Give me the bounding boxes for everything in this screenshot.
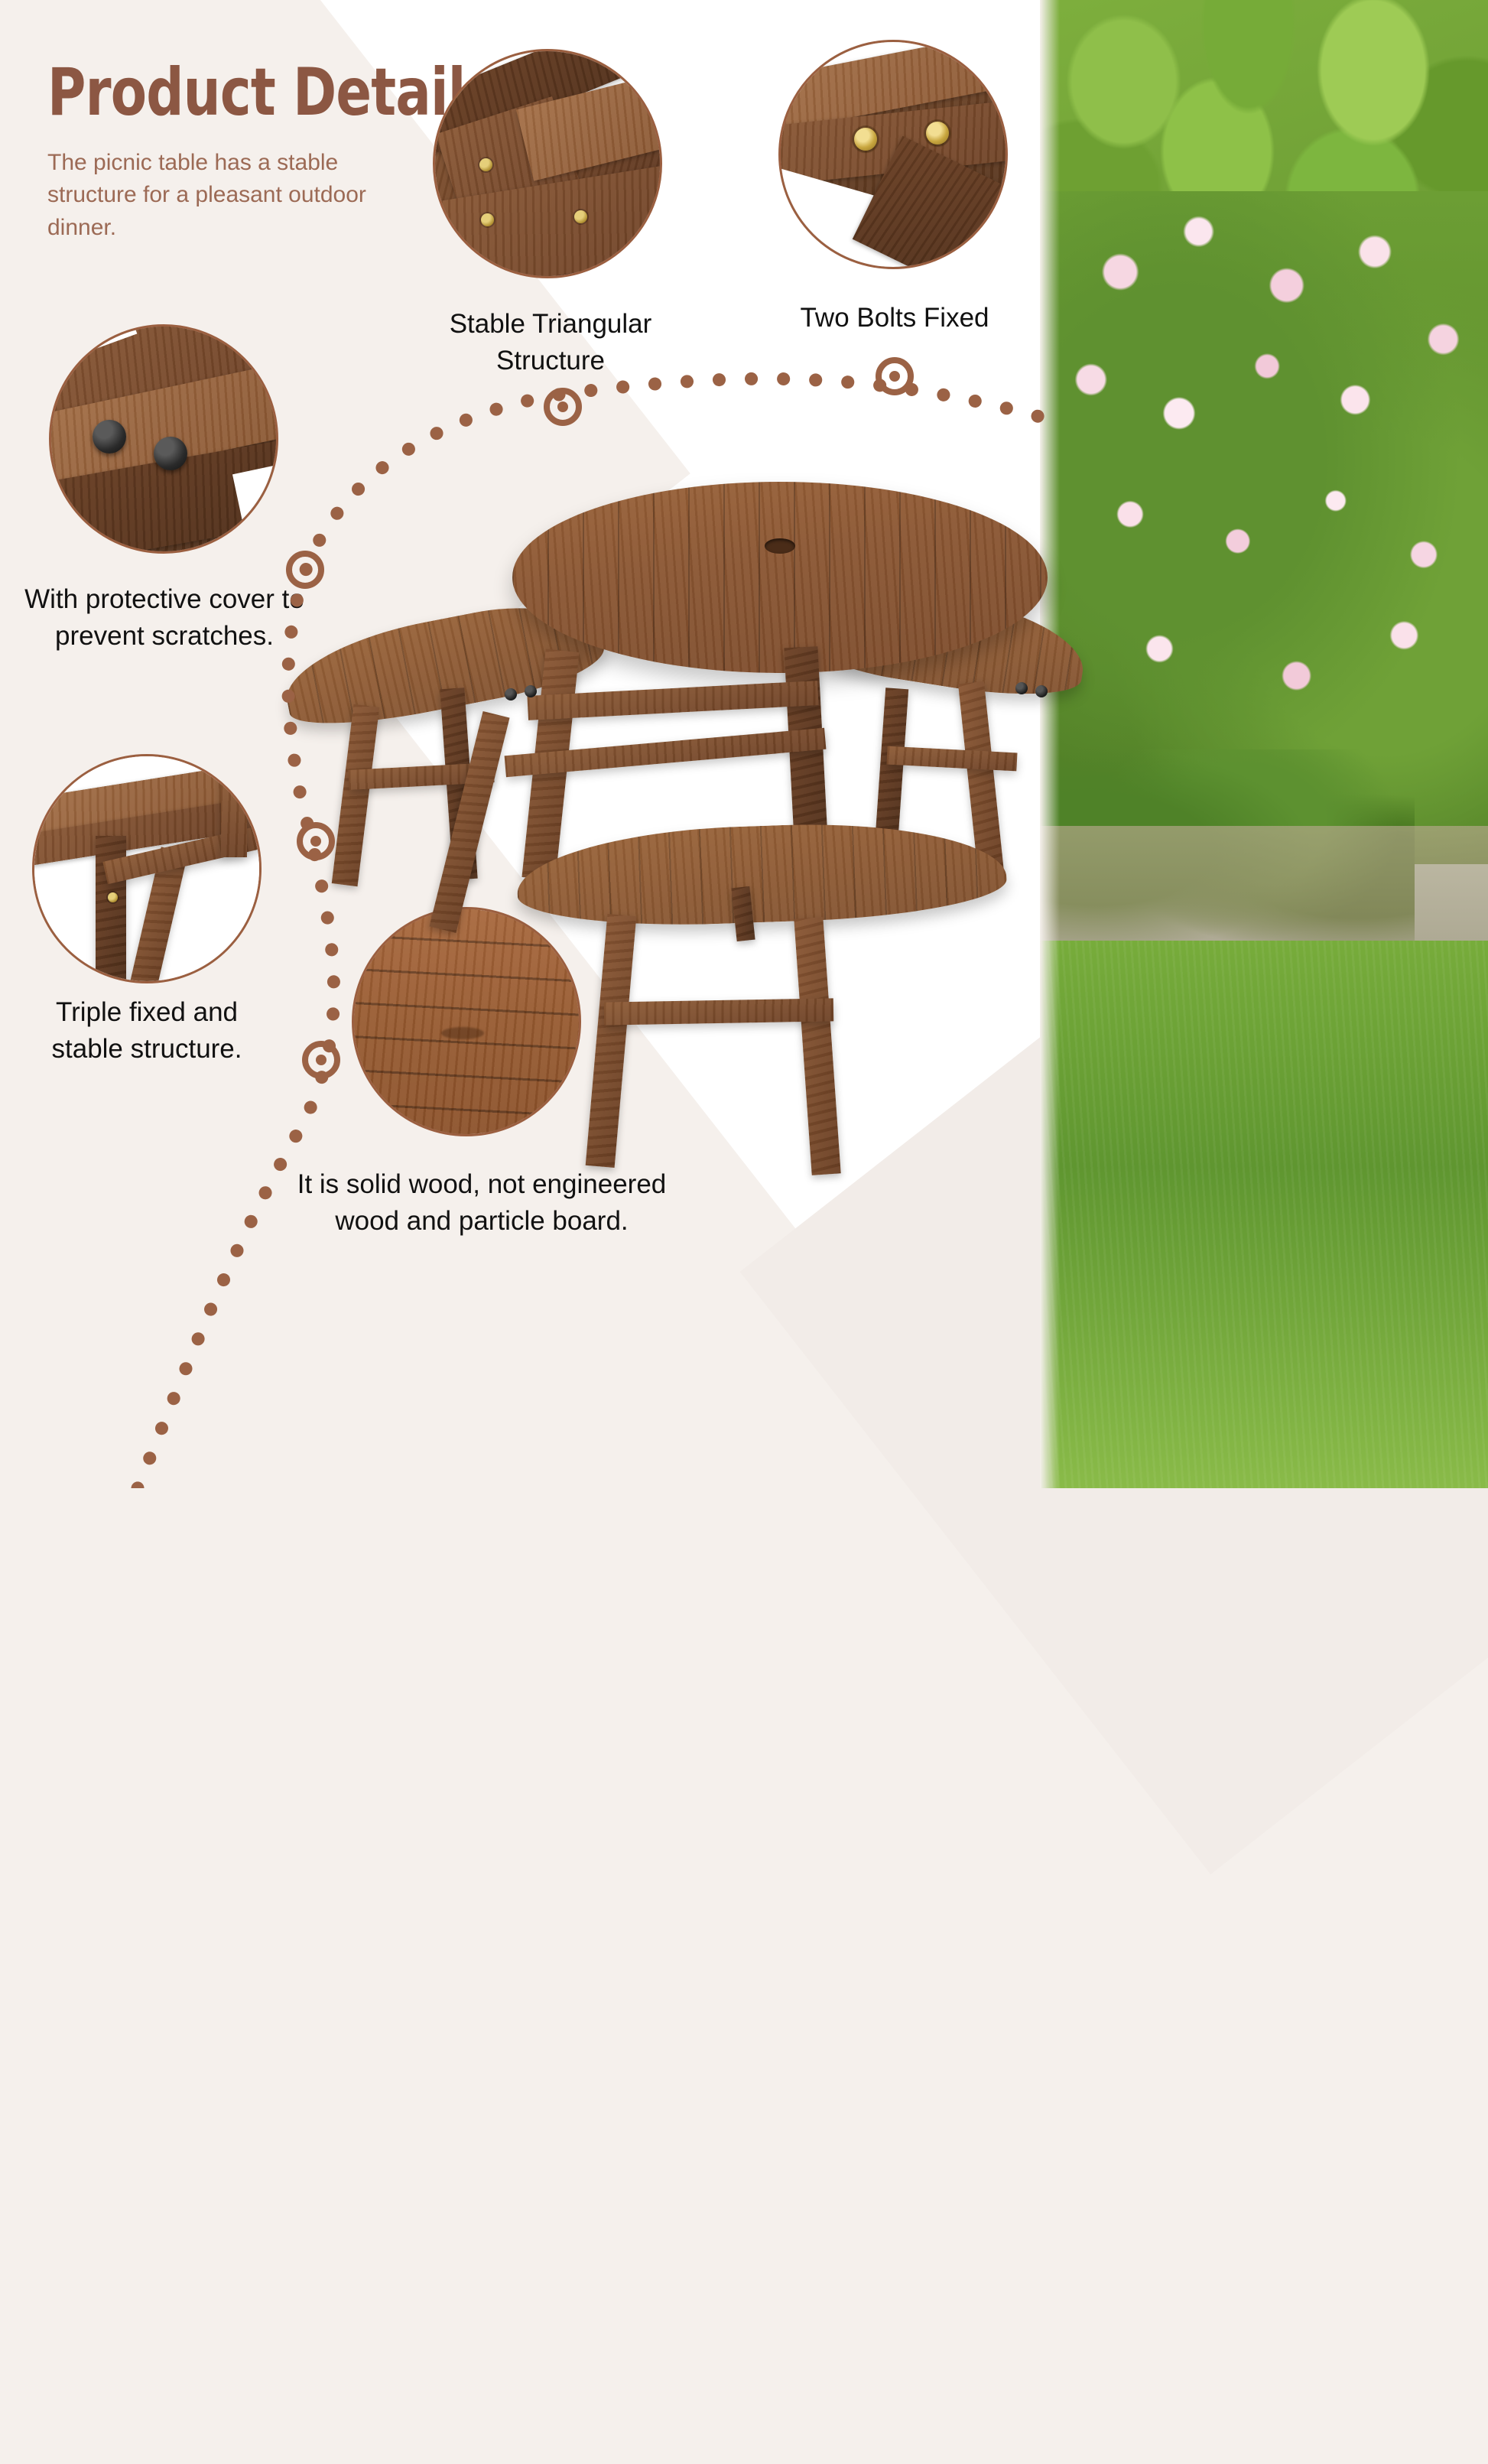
bench-front-leg-left — [586, 914, 637, 1168]
rail-upright — [221, 773, 247, 857]
cap-icon — [1015, 682, 1028, 694]
detail-circle-stable-triangular-structure — [433, 49, 662, 278]
screw-icon — [479, 158, 492, 171]
cap-icon — [1035, 685, 1048, 697]
umbrella-hole — [765, 538, 795, 554]
protective-cap-icon — [154, 437, 187, 470]
detail-photo-two-bolts-fixed — [778, 40, 1008, 269]
caption-triple-fixed: Triple fixed and stable structure. — [17, 994, 277, 1068]
detail-circle-protective-cover — [49, 324, 278, 554]
bench-front-seat — [515, 818, 1008, 931]
cap-icon — [505, 688, 517, 701]
caption-stable-triangular-structure: Stable Triangular Structure — [413, 306, 688, 380]
detail-circle-triple-fixed — [32, 754, 262, 983]
garden-photo-strip — [1040, 0, 1488, 1488]
caption-two-bolts-fixed: Two Bolts Fixed — [749, 300, 1040, 336]
table-top — [512, 482, 1048, 673]
detail-photo-protective-cover — [49, 324, 278, 554]
bench-front-rail — [604, 998, 833, 1025]
bench-back-left-leg-front — [332, 704, 380, 886]
screw-icon — [574, 210, 587, 223]
garden-lawn — [1040, 941, 1488, 1488]
detail-photo-triple-fixed — [32, 754, 262, 983]
screw-icon — [108, 892, 118, 902]
detail-circle-two-bolts-fixed — [778, 40, 1008, 269]
page-title: Product Detail — [47, 60, 427, 127]
bolt-icon — [926, 122, 949, 145]
page-subtitle: The picnic table has a stable structure … — [47, 147, 407, 245]
infographic-canvas: Product Detail The picnic table has a st… — [0, 0, 1488, 1488]
bench-right-rail — [886, 746, 1017, 772]
bench-front-leg-right — [794, 917, 840, 1175]
hero-product-photo — [275, 459, 1063, 1208]
cap-icon — [525, 685, 537, 697]
detail-photo-stable-triangular-structure — [433, 49, 662, 278]
caption-protective-cover: With protective cover to prevent scratch… — [15, 581, 314, 655]
bolt-icon — [854, 128, 877, 151]
protective-cap-icon — [93, 420, 126, 453]
table-leg-outer-left — [429, 711, 509, 933]
screw-icon — [481, 213, 494, 226]
